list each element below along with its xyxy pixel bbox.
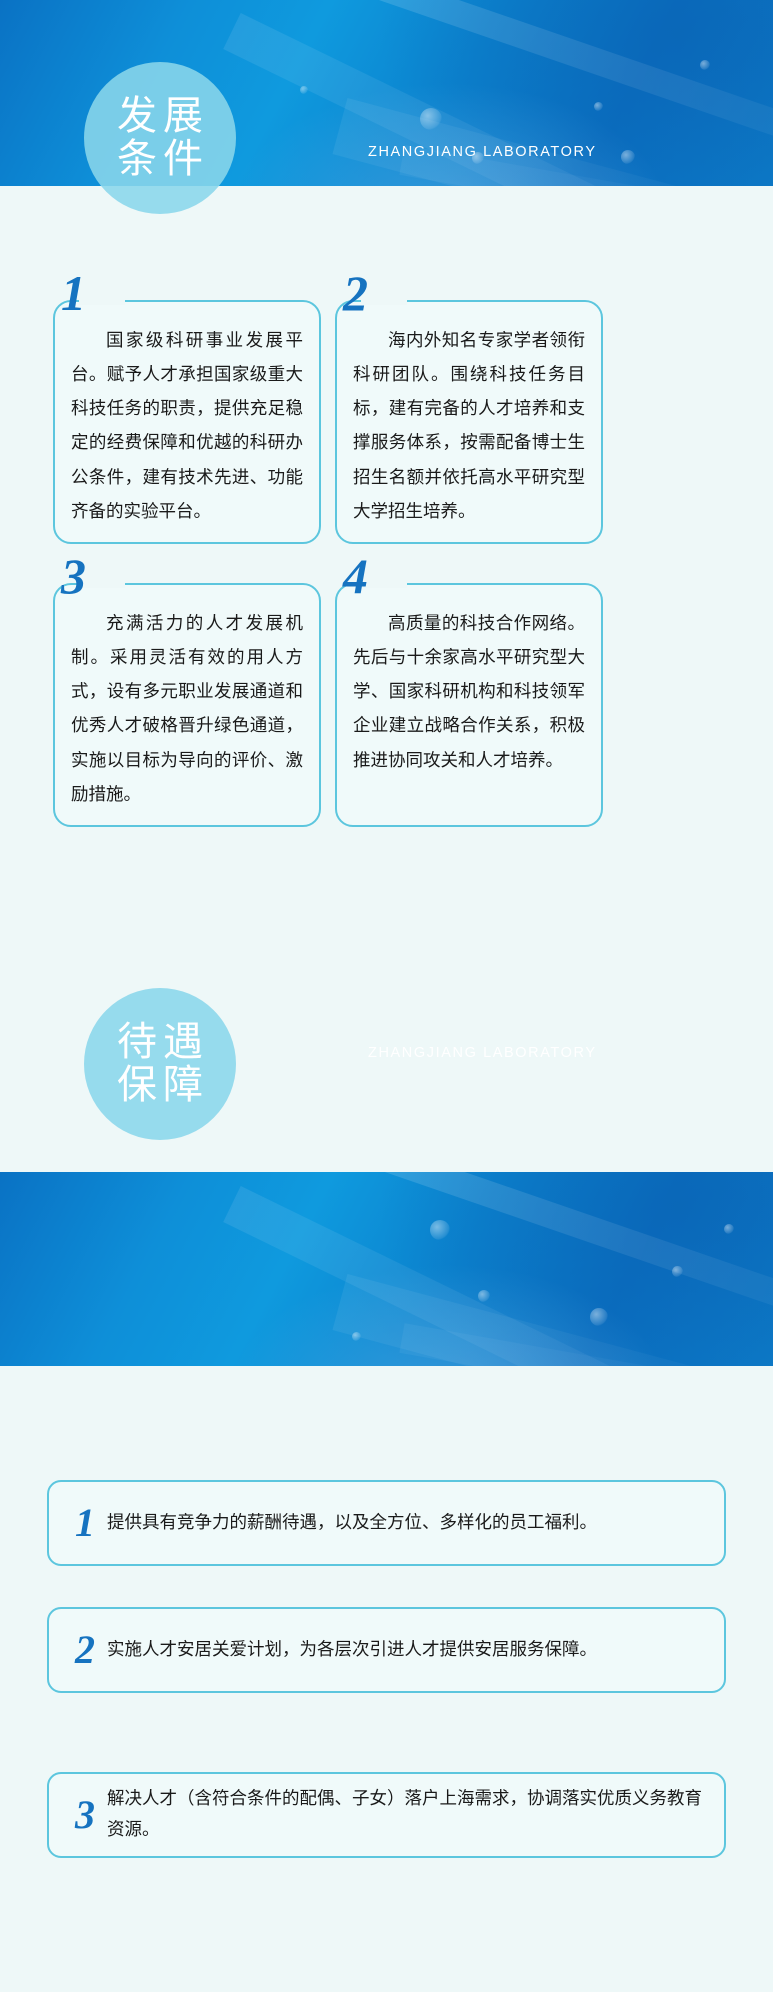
banner-light-ray: [223, 1186, 773, 1366]
benefit-row-2: 2 实施人才安居关爱计划，为各层次引进人才提供安居服务保障。: [47, 1607, 726, 1693]
section1-badge-line1: 发展: [111, 95, 209, 138]
banner-light-ray: [333, 1274, 773, 1366]
benefit-text-3: 解决人才（含符合条件的配偶、子女）落户上海需求，协调落实优质义务教育资源。: [107, 1784, 706, 1845]
section2-title-badge: 待遇 保障: [84, 988, 236, 1140]
banner-bokeh-dot: [594, 102, 603, 111]
banner-bokeh-dot: [478, 1290, 490, 1302]
banner-bokeh-dot: [672, 1266, 683, 1277]
poster-page: 发展 条件 ZHANGJIANG LABORATORY 1 国家级科研事业发展平…: [0, 0, 773, 1992]
banner-light-ray: [333, 98, 773, 186]
feature-card-3: 3 充满活力的人才发展机制。采用灵活有效的用人方式，设有多元职业发展通道和优秀人…: [53, 583, 321, 827]
card-number-3: 3: [61, 551, 86, 601]
card-text-1: 国家级科研事业发展平台。赋予人才承担国家级重大科技任务的职责，提供充足稳定的经费…: [55, 302, 319, 543]
banner-light-ray: [223, 13, 773, 186]
section1-lab-logo: ZHANGJIANG LABORATORY: [368, 144, 597, 160]
card-number-1: 1: [61, 268, 86, 318]
banner-bokeh-dot: [352, 1332, 361, 1341]
banner-bokeh-dot: [621, 150, 635, 164]
feature-card-4: 4 高质量的科技合作网络。先后与十余家高水平研究型大学、国家科研机构和科技领军企…: [335, 583, 603, 827]
banner-bokeh-dot: [420, 108, 442, 130]
feature-card-2: 2 海内外知名专家学者领衔科研团队。围绕科技任务目标，建有完备的人才培养和支撑服…: [335, 300, 603, 544]
benefit-text-1: 提供具有竞争力的薪酬待遇，以及全方位、多样化的员工福利。: [107, 1508, 706, 1539]
banner-bokeh-dot: [300, 86, 308, 94]
benefit-row-3: 3 解决人才（含符合条件的配偶、子女）落户上海需求，协调落实优质义务教育资源。: [47, 1772, 726, 1858]
benefit-number-1: 1: [63, 1503, 107, 1543]
banner-light-ray: [399, 1324, 773, 1366]
section2-lab-logo: ZHANGJIANG LABORATORY: [368, 1045, 597, 1061]
banner-light-ray: [290, 1172, 773, 1366]
benefit-row-1: 1 提供具有竞争力的薪酬待遇，以及全方位、多样化的员工福利。: [47, 1480, 726, 1566]
banner-bokeh-dot: [590, 1308, 608, 1326]
card-text-3: 充满活力的人才发展机制。采用灵活有效的用人方式，设有多元职业发展通道和优秀人才破…: [55, 585, 319, 826]
banner-bokeh-dot: [430, 1220, 450, 1240]
benefit-number-3: 3: [63, 1795, 107, 1835]
feature-card-1: 1 国家级科研事业发展平台。赋予人才承担国家级重大科技任务的职责，提供充足稳定的…: [53, 300, 321, 544]
benefit-text-2: 实施人才安居关爱计划，为各层次引进人才提供安居服务保障。: [107, 1635, 706, 1666]
section1-badge-line2: 条件: [111, 138, 209, 181]
section2-badge-line2: 保障: [111, 1064, 209, 1107]
benefit-number-2: 2: [63, 1630, 107, 1670]
section2-banner: [0, 1172, 773, 1366]
banner-bokeh-dot: [724, 1224, 734, 1234]
card-text-4: 高质量的科技合作网络。先后与十余家高水平研究型大学、国家科研机构和科技领军企业建…: [337, 585, 601, 792]
banner-bokeh-dot: [700, 60, 710, 70]
card-text-2: 海内外知名专家学者领衔科研团队。围绕科技任务目标，建有完备的人才培养和支撑服务体…: [337, 302, 601, 543]
card-number-2: 2: [343, 268, 368, 318]
card-number-4: 4: [343, 551, 368, 601]
section2-badge-line1: 待遇: [111, 1021, 209, 1064]
section1-title-badge: 发展 条件: [84, 62, 236, 214]
